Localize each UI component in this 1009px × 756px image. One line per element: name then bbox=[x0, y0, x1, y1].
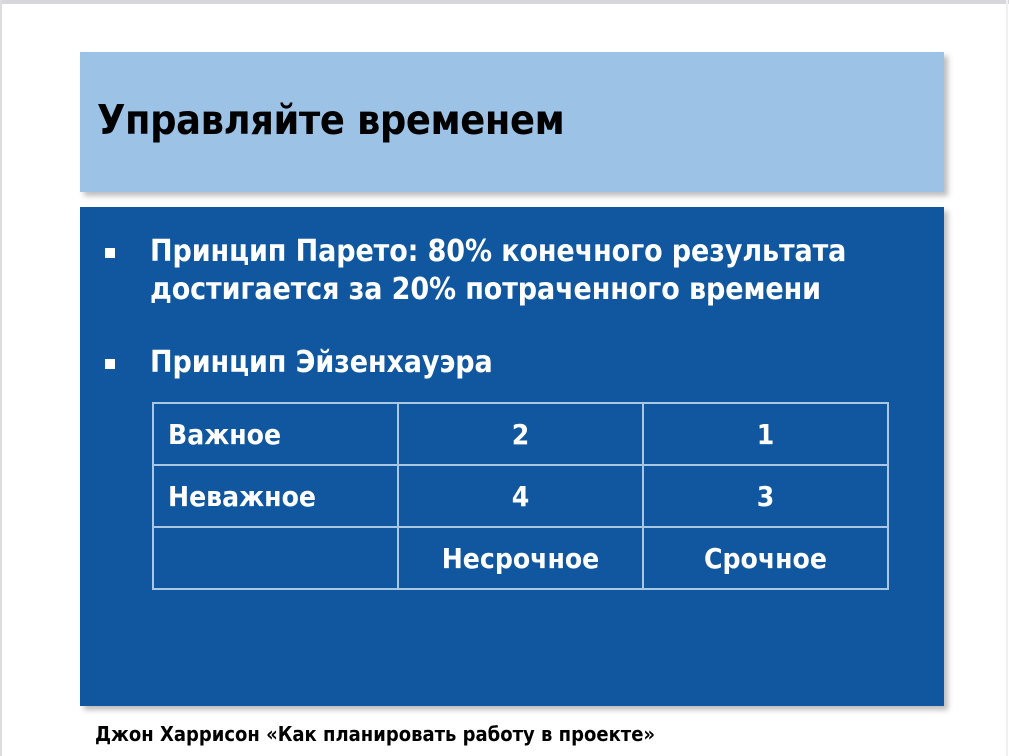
bullet-item-label: Принцип Парето: 80% конечного результата… bbox=[150, 233, 930, 309]
slide-frame-top-edge bbox=[0, 0, 1009, 4]
matrix-row-label: Важное bbox=[153, 403, 398, 465]
matrix-row-label: Неважное bbox=[153, 465, 398, 527]
matrix-cell-unimportant-urgent: 3 bbox=[643, 465, 888, 527]
eisenhower-matrix-table: Важное 2 1 Неважное 4 3 Несрочное Срочно… bbox=[152, 402, 889, 590]
slide-frame-right-edge bbox=[1006, 0, 1008, 756]
presentation-slide: Управляйте временем Принцип Парето: 80% … bbox=[0, 0, 1009, 756]
matrix-cell-unimportant-not-urgent: 4 bbox=[398, 465, 643, 527]
slide-body-panel: Принцип Парето: 80% конечного результата… bbox=[80, 207, 944, 706]
matrix-column-label-not-urgent: Несрочное bbox=[398, 527, 643, 589]
square-bullet-icon bbox=[105, 248, 115, 258]
matrix-corner-cell-empty bbox=[153, 527, 398, 589]
bullet-item-label: Принцип Эйзенхауэра bbox=[150, 344, 930, 382]
table-row: Несрочное Срочное bbox=[153, 527, 888, 589]
square-bullet-icon bbox=[105, 359, 115, 369]
matrix-cell-important-urgent: 1 bbox=[643, 403, 888, 465]
slide-title: Управляйте временем bbox=[97, 96, 927, 144]
slide-title-banner: Управляйте временем bbox=[80, 52, 944, 192]
slide-frame-left-edge bbox=[0, 0, 2, 756]
table-row: Неважное 4 3 bbox=[153, 465, 888, 527]
slide-footer-source: Джон Харрисон «Как планировать работу в … bbox=[95, 722, 655, 746]
matrix-cell-important-not-urgent: 2 bbox=[398, 403, 643, 465]
table-row: Важное 2 1 bbox=[153, 403, 888, 465]
matrix-column-label-urgent: Срочное bbox=[643, 527, 888, 589]
